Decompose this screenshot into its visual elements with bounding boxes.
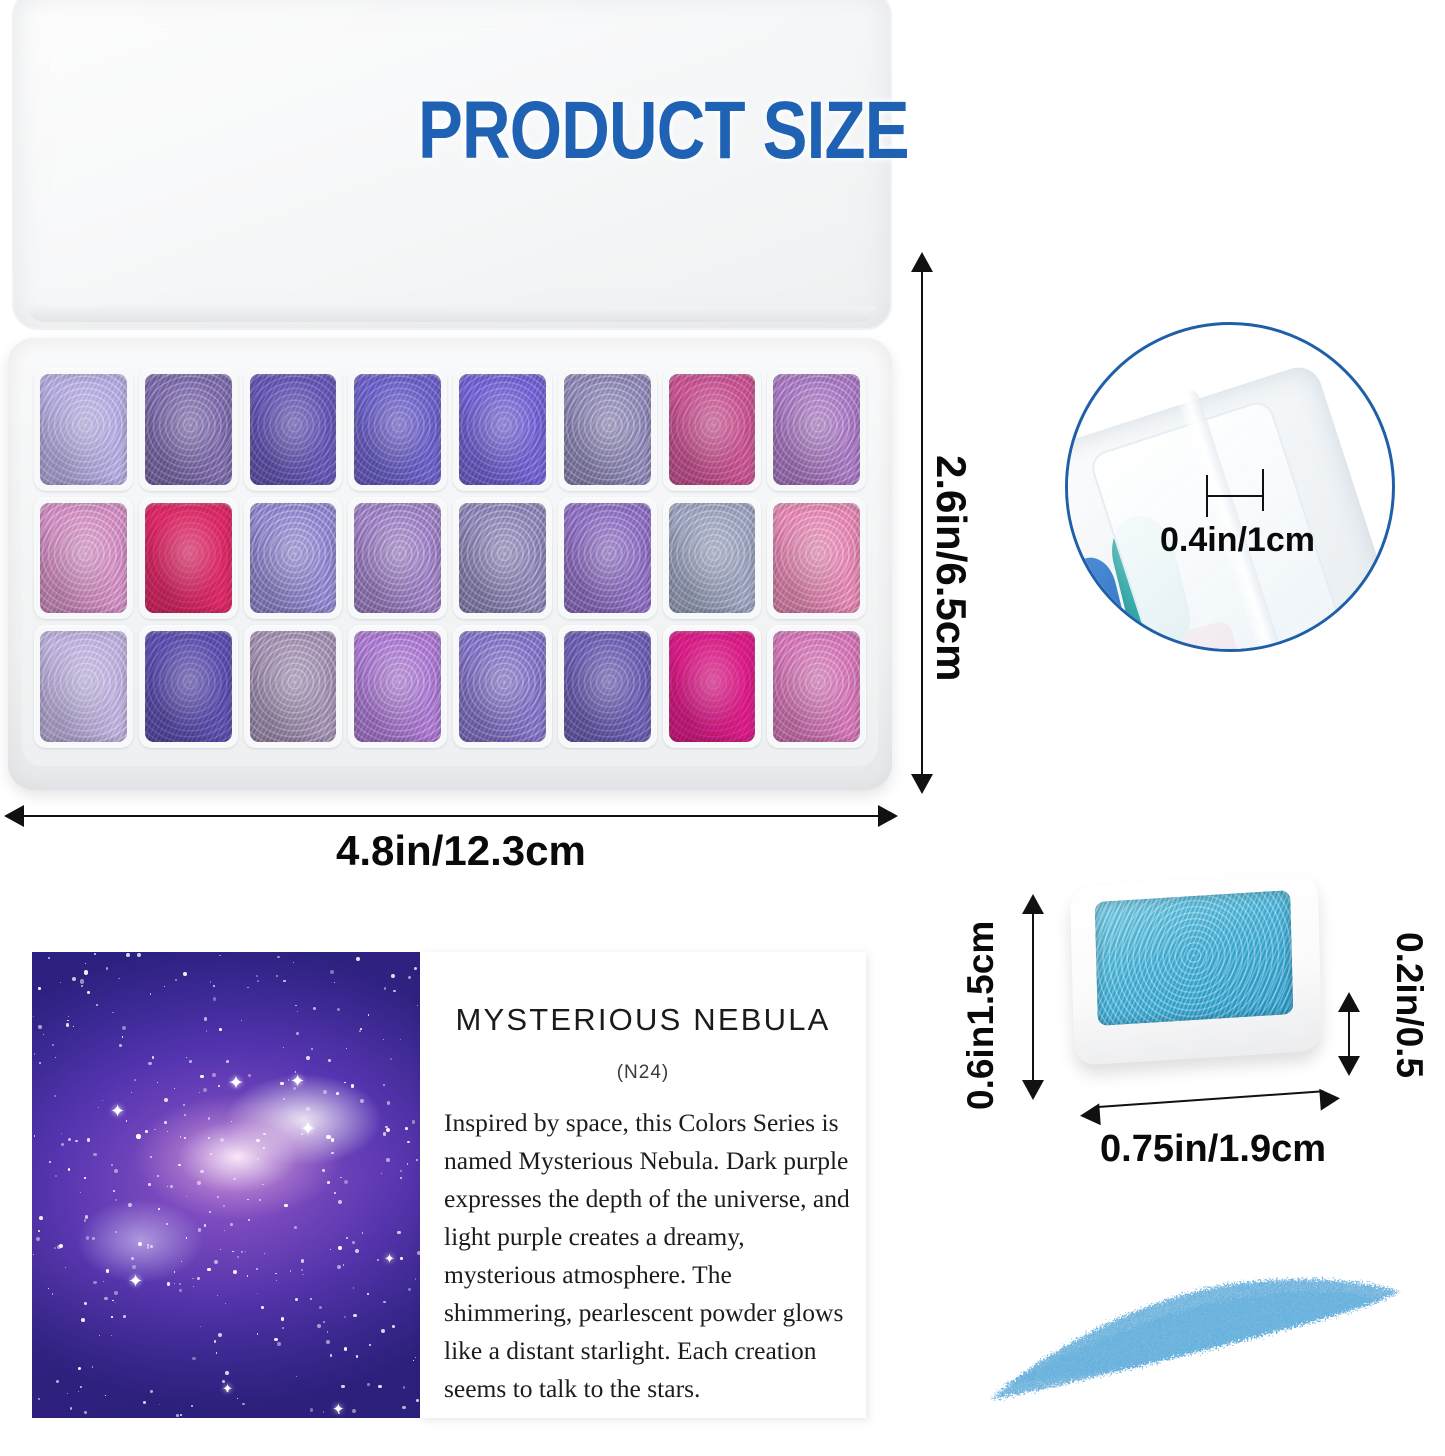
star-dot [80, 1192, 81, 1193]
star-dot [34, 1053, 35, 1054]
star-dot [344, 1316, 346, 1318]
star-dot [137, 953, 141, 957]
star-dot [337, 1008, 340, 1011]
star-dot [115, 1302, 116, 1303]
sparkle-star-icon: ✦ [110, 1102, 125, 1120]
star-dot [310, 1298, 312, 1300]
paint-pan [564, 374, 651, 485]
star-dot [322, 1169, 325, 1172]
paint-pan [40, 631, 127, 742]
star-dot [383, 1039, 384, 1040]
star-dot [92, 1366, 94, 1368]
star-dot [259, 1199, 261, 1201]
star-dot [226, 1060, 229, 1063]
star-dot [323, 1321, 324, 1322]
star-dot [296, 1032, 299, 1035]
star-dot [68, 1016, 69, 1017]
star-dot [274, 1338, 278, 1342]
star-dot [126, 953, 130, 957]
width-arrow-right-icon [878, 805, 898, 827]
star-dot [78, 1391, 79, 1392]
height-arrow-bottom-icon [911, 774, 933, 794]
star-dot [257, 1333, 258, 1334]
single-paint-pan [1072, 880, 1320, 1070]
paint-well [348, 625, 447, 748]
product-description-card: MYSTERIOUS NEBULA (N24) Inspired by spac… [420, 952, 866, 1418]
star-dot [204, 1017, 207, 1020]
star-dot [111, 1316, 112, 1317]
star-dot [225, 1371, 229, 1375]
paint-well [244, 625, 343, 748]
star-dot [383, 1301, 385, 1303]
star-dot [224, 1230, 225, 1231]
star-dot [207, 1268, 210, 1271]
star-dot [220, 1249, 221, 1250]
star-dot [189, 1060, 192, 1063]
star-dot [208, 1117, 211, 1120]
star-dot [148, 1183, 151, 1186]
star-dot [369, 1344, 371, 1346]
star-dot [38, 1025, 42, 1029]
star-dot [257, 1158, 259, 1160]
star-dot [384, 987, 387, 990]
paint-well [139, 625, 238, 748]
star-dot [233, 1270, 237, 1274]
star-dot [390, 1058, 393, 1061]
paint-pan-grid [30, 364, 870, 752]
star-dot [200, 1170, 204, 1174]
star-dot [38, 987, 41, 990]
product-size-infographic: PRODUCT SIZE 2.6in/6.5cm 4.8in/12.3cm 0.… [0, 0, 1445, 1456]
star-dot [206, 1030, 208, 1032]
star-dot [407, 1163, 409, 1165]
star-dot [242, 1403, 245, 1406]
detail-bracket-tick-left [1206, 475, 1208, 517]
pan-height-arrow-top-icon [1022, 894, 1044, 914]
single-pan-paint [1095, 890, 1294, 1026]
product-description-text: Inspired by space, this Colors Series is… [444, 1104, 850, 1408]
star-dot [276, 1280, 277, 1281]
star-dot [96, 1004, 98, 1006]
star-dot [225, 1303, 226, 1304]
star-dot [87, 1138, 90, 1141]
star-dot [112, 1012, 114, 1014]
paint-well [34, 497, 133, 620]
paint-well [139, 497, 238, 620]
star-dot [277, 1342, 281, 1346]
star-dot [343, 1264, 345, 1266]
star-dot [164, 986, 165, 987]
pan-height-label: 0.6in1.5cm [960, 921, 1002, 1110]
star-dot [184, 1114, 186, 1116]
star-dot [261, 1306, 264, 1309]
paint-pan [145, 631, 232, 742]
star-dot [105, 1395, 106, 1396]
star-dot [111, 1164, 113, 1166]
star-dot [262, 1184, 263, 1185]
star-dot [256, 1268, 258, 1270]
star-dot [400, 1177, 402, 1179]
star-dot [186, 1237, 188, 1239]
star-dot [360, 1028, 362, 1030]
paint-pan [773, 503, 860, 614]
star-dot [327, 1181, 330, 1184]
star-dot [352, 1241, 355, 1244]
star-dot [65, 1267, 66, 1268]
star-dot [181, 1261, 182, 1262]
star-dot [86, 1236, 90, 1240]
star-dot [175, 979, 177, 981]
star-dot [387, 1101, 391, 1105]
paint-pan [459, 503, 546, 614]
star-dot [403, 1386, 406, 1389]
star-dot [276, 975, 277, 976]
star-dot [219, 955, 221, 957]
star-dot [367, 1293, 369, 1295]
pan-height-line [1032, 912, 1034, 1082]
star-dot [362, 1232, 364, 1234]
star-dot [334, 982, 335, 983]
star-dot [197, 1277, 201, 1281]
star-dot [407, 1141, 409, 1143]
star-dot [176, 1414, 179, 1417]
star-dot [164, 1121, 167, 1124]
star-dot [123, 1315, 126, 1318]
star-dot [85, 1215, 89, 1219]
paint-pan [459, 374, 546, 485]
star-dot [405, 1127, 408, 1130]
paint-pan [564, 631, 651, 742]
star-dot [241, 1020, 242, 1021]
detail-bracket-tick-right [1262, 469, 1264, 511]
star-dot [392, 1325, 395, 1328]
star-dot [247, 1275, 248, 1276]
star-dot [275, 1273, 277, 1275]
star-dot [241, 1251, 244, 1254]
star-dot [219, 1028, 222, 1031]
star-dot [200, 1326, 201, 1327]
star-dot [310, 1408, 313, 1411]
star-dot [297, 1011, 298, 1012]
star-dot [70, 1407, 72, 1409]
star-dot [283, 980, 286, 983]
pan-width-label: 0.75in/1.9cm [1100, 1128, 1326, 1171]
star-dot [295, 1298, 299, 1302]
star-dot [282, 1327, 284, 1329]
star-dot [33, 1254, 34, 1255]
star-dot [158, 1208, 160, 1210]
star-dot [55, 1057, 56, 1058]
star-dot [55, 1175, 58, 1178]
paint-well [558, 625, 657, 748]
star-dot [294, 1226, 298, 1230]
paint-well [663, 368, 762, 491]
star-dot [280, 1082, 283, 1085]
star-dot [150, 1156, 152, 1158]
sparkle-star-icon: ✦ [332, 1402, 345, 1417]
star-dot [43, 1034, 44, 1035]
star-dot [346, 1237, 348, 1239]
paint-pan [40, 503, 127, 614]
star-dot [263, 1147, 264, 1148]
sparkle-star-icon: ✦ [228, 1074, 244, 1093]
star-dot [217, 1295, 218, 1296]
star-dot [186, 1196, 187, 1197]
star-dot [38, 1230, 40, 1232]
star-dot [118, 978, 119, 979]
paint-pan [250, 631, 337, 742]
star-dot [72, 977, 76, 981]
star-dot [330, 1249, 331, 1250]
paint-pan [145, 503, 232, 614]
paint-well [348, 368, 447, 491]
star-dot [281, 1317, 284, 1320]
star-dot [199, 1092, 200, 1093]
star-dot [84, 1177, 85, 1178]
star-dot [336, 1092, 339, 1095]
star-dot [213, 985, 216, 988]
star-dot [200, 1075, 204, 1079]
page-title: PRODUCT SIZE [418, 84, 909, 178]
paint-pan [669, 503, 756, 614]
star-dot [359, 1030, 361, 1032]
width-dimension-label: 4.8in/12.3cm [336, 827, 586, 875]
star-dot [75, 1140, 77, 1142]
star-dot [245, 1251, 247, 1253]
paint-pan [459, 631, 546, 742]
width-arrow-left-icon [4, 805, 24, 827]
star-dot [344, 1347, 347, 1350]
detail-bracket-line [1206, 495, 1264, 497]
star-dot [113, 1190, 115, 1192]
star-dot [344, 1180, 348, 1184]
star-dot [256, 975, 258, 977]
paint-pan [669, 374, 756, 485]
star-dot [183, 1104, 185, 1106]
paint-well [767, 625, 866, 748]
star-dot [337, 1265, 341, 1269]
paint-well [34, 368, 133, 491]
star-dot [93, 1281, 96, 1284]
pan-depth-arrow-bottom-icon [1338, 1056, 1360, 1076]
star-dot [115, 1199, 117, 1201]
star-dot [386, 1158, 390, 1162]
star-dot [331, 1152, 334, 1155]
star-dot [145, 1130, 149, 1134]
star-dot [208, 1137, 210, 1139]
star-dot [48, 957, 50, 959]
star-dot [106, 967, 108, 969]
star-dot [138, 1242, 142, 1246]
pan-width-line [1098, 1090, 1324, 1108]
star-dot [248, 1074, 251, 1077]
star-dot [154, 1129, 156, 1131]
sparkle-star-icon: ✦ [384, 1252, 395, 1265]
star-dot [52, 1293, 54, 1295]
star-dot [247, 987, 249, 989]
star-dot [167, 1282, 171, 1286]
star-dot [237, 1398, 238, 1399]
star-dot [344, 1082, 345, 1083]
star-dot [326, 1340, 330, 1344]
star-dot [383, 1084, 384, 1085]
star-dot [167, 1131, 168, 1132]
star-dot [122, 1036, 124, 1038]
paint-pan [145, 374, 232, 485]
star-dot [217, 1196, 219, 1198]
star-dot [301, 1259, 304, 1262]
star-dot [214, 1260, 218, 1264]
star-dot [67, 1393, 69, 1395]
star-dot [216, 1352, 218, 1354]
star-dot [174, 1271, 176, 1273]
star-dot [85, 963, 86, 964]
star-dot [412, 1120, 415, 1123]
pan-height-arrow-bottom-icon [1022, 1080, 1044, 1100]
paint-well [244, 497, 343, 620]
star-dot [164, 1098, 168, 1102]
star-dot [157, 1082, 158, 1083]
star-dot [84, 970, 88, 974]
paint-well [453, 368, 552, 491]
star-dot [131, 1257, 134, 1260]
star-dot [277, 956, 280, 959]
star-dot [131, 1092, 132, 1093]
star-dot [311, 1048, 312, 1049]
star-dot [383, 1132, 386, 1135]
star-dot [103, 1281, 104, 1282]
star-dot [115, 1231, 117, 1233]
star-dot [400, 1170, 402, 1172]
pan-width-arrow-left-icon [1079, 1103, 1100, 1126]
star-dot [340, 1177, 342, 1179]
star-dot [112, 1300, 113, 1301]
paint-well [34, 625, 133, 748]
star-dot [56, 1380, 59, 1383]
star-dot [73, 1026, 74, 1027]
width-dimension-line [22, 815, 882, 817]
star-dot [296, 1376, 297, 1377]
star-dot [186, 1057, 187, 1058]
star-dot [263, 1133, 265, 1135]
star-dot [179, 1289, 182, 1292]
paint-well [767, 497, 866, 620]
star-dot [136, 1134, 140, 1138]
star-dot [413, 1360, 414, 1361]
star-dot [214, 1340, 217, 1343]
star-dot [377, 1259, 379, 1261]
star-dot [114, 1169, 118, 1173]
swatch-svg [960, 1252, 1410, 1422]
star-dot [218, 1333, 222, 1337]
star-dot [334, 1192, 336, 1194]
star-dot [220, 1138, 224, 1142]
star-dot [114, 1291, 118, 1295]
star-dot [180, 1136, 181, 1137]
star-dot [166, 1223, 168, 1225]
star-dot [341, 1385, 345, 1389]
star-dot [84, 1302, 87, 1305]
star-dot [328, 1059, 332, 1063]
star-dot [49, 1161, 51, 1163]
star-dot [92, 1237, 96, 1241]
star-dot [152, 1056, 154, 1058]
star-dot [237, 1256, 239, 1258]
star-dot [84, 1411, 87, 1414]
paint-well [558, 368, 657, 491]
star-dot [330, 1354, 333, 1357]
star-dot [67, 1020, 68, 1021]
star-dot [402, 1406, 405, 1409]
star-dot [132, 1265, 136, 1269]
star-dot [68, 1138, 71, 1141]
star-dot [180, 1414, 182, 1416]
star-dot [210, 981, 212, 983]
star-dot [179, 1283, 181, 1285]
star-dot [197, 1181, 201, 1185]
pan-depth-label: 0.2in/0.5 [1388, 932, 1430, 1078]
star-dot [147, 1246, 150, 1249]
star-dot [415, 1278, 417, 1280]
star-dot [306, 1056, 310, 1060]
product-code: (N24) [420, 1062, 866, 1084]
star-dot [33, 1016, 34, 1017]
star-dot [218, 1085, 220, 1087]
star-dot [368, 1014, 370, 1016]
star-dot [99, 1335, 100, 1336]
star-dot [408, 976, 411, 979]
star-dot [94, 953, 96, 955]
star-dot [313, 1007, 316, 1010]
star-dot [34, 1135, 36, 1137]
star-dot [319, 1306, 322, 1309]
star-dot [143, 1401, 146, 1404]
star-dot [397, 1231, 400, 1234]
star-dot [417, 1005, 418, 1006]
star-dot [81, 1318, 85, 1322]
star-dot [330, 970, 334, 974]
star-dot [381, 1173, 382, 1174]
paint-pan [354, 374, 441, 485]
star-dot [256, 1139, 259, 1142]
lid-thickness-label: 0.4in/1cm [1160, 521, 1315, 560]
paint-pan [354, 503, 441, 614]
star-dot [386, 1128, 390, 1132]
sparkle-star-icon: ✦ [222, 1382, 233, 1395]
star-dot [306, 1107, 310, 1111]
star-dot [400, 1257, 402, 1259]
star-dot [416, 1399, 419, 1402]
star-dot [102, 1100, 103, 1101]
paint-pan [250, 503, 337, 614]
star-dot [191, 1405, 193, 1407]
star-dot [283, 1047, 284, 1048]
sparkle-star-icon: ✦ [128, 1272, 143, 1290]
star-dot [317, 1324, 321, 1328]
paint-pan [354, 631, 441, 742]
lid-thickness-detail-circle: 0.4in/1cm [1065, 322, 1395, 652]
height-dimension-label: 2.6in/6.5cm [927, 455, 975, 681]
star-dot [87, 991, 89, 993]
star-dot [204, 1224, 206, 1226]
star-dot [78, 1367, 81, 1370]
star-dot [338, 1246, 342, 1250]
paint-pan [773, 374, 860, 485]
galaxy-artwork: ✦✦✦✦✦✦✦✦ [32, 952, 420, 1418]
star-dot [36, 1237, 40, 1241]
star-dot [48, 1288, 49, 1289]
star-dot [157, 1175, 159, 1177]
